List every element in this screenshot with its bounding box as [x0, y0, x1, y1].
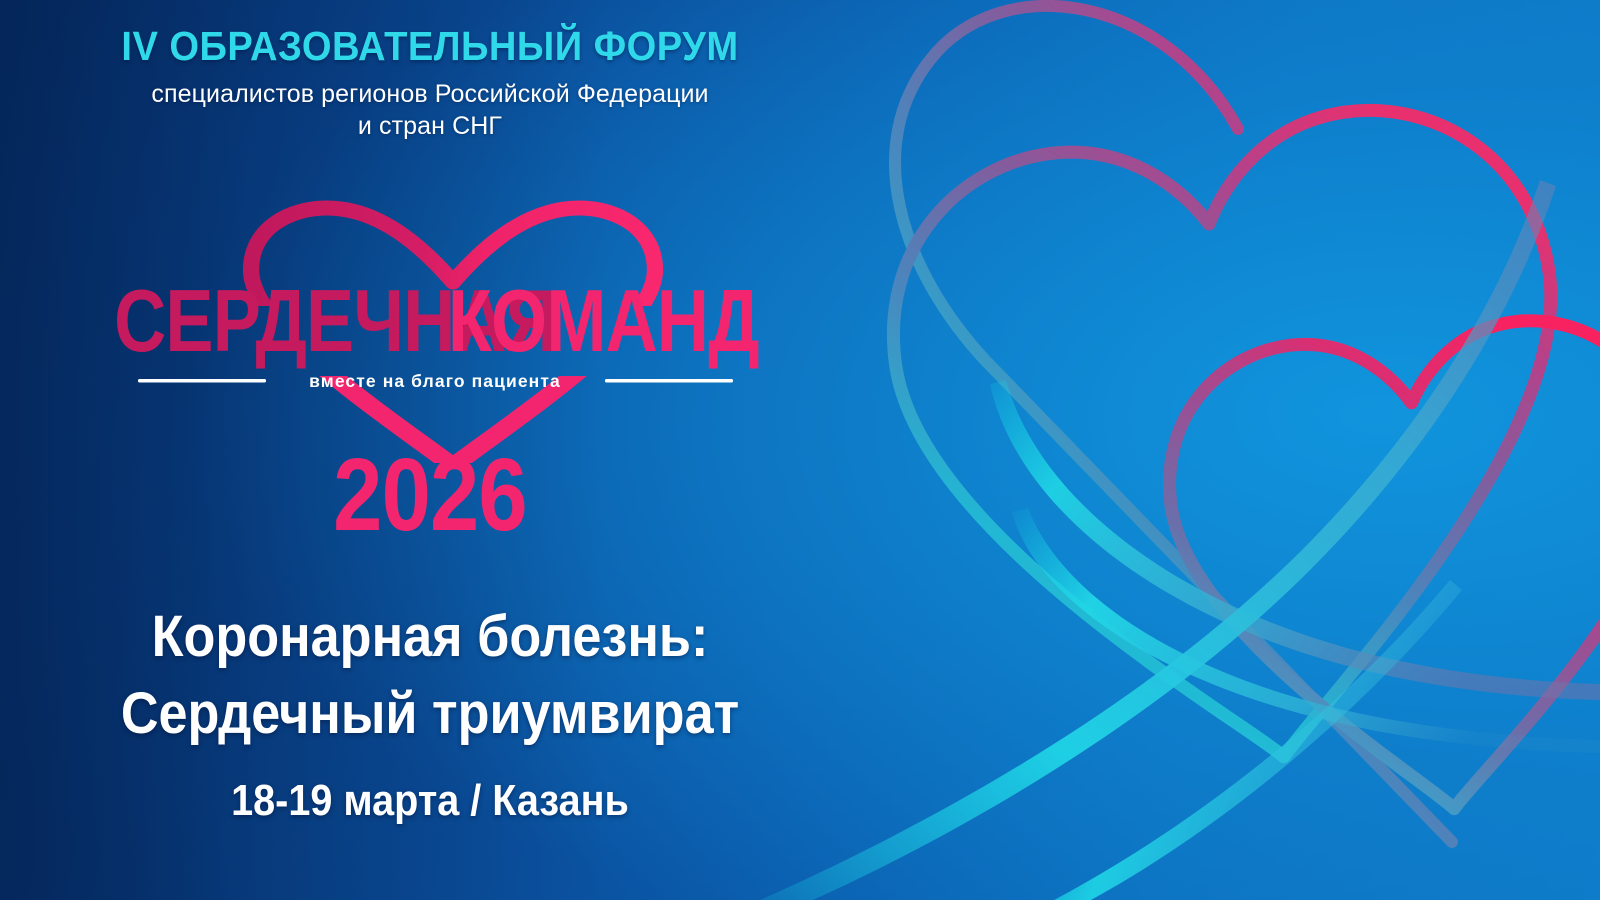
logo-wordmark: СЕРДЕЧНАЯ КОМАНДА — [114, 272, 760, 370]
forum-title: IV ОБРАЗОВАТЕЛЬНЫЙ ФОРУМ — [30, 26, 830, 67]
event-dates-and-city: 18-19 марта / Казань — [43, 777, 817, 825]
tagline-rule-right — [605, 379, 733, 383]
main-title-line-2: Сердечный триумвират — [43, 675, 817, 752]
forum-subtitle: специалистов регионов Российской Федерац… — [0, 78, 860, 142]
decorative-swoosh-1 — [990, 380, 1600, 700]
poster-content: IV ОБРАЗОВАТЕЛЬНЫЙ ФОРУМ специалистов ре… — [0, 0, 880, 900]
decorative-heart-outer — [869, 87, 1600, 803]
event-poster: IV ОБРАЗОВАТЕЛЬНЫЙ ФОРУМ специалистов ре… — [0, 0, 1600, 900]
poster-main-title: Коронарная болезнь: Сердечный триумвират — [43, 598, 817, 752]
event-year: 2026 — [60, 443, 800, 546]
tagline-rule-left — [138, 379, 266, 383]
brand-logo: СЕРДЕЧНАЯ КОМАНДА вместе на благо пациен… — [110, 188, 760, 463]
logo-tagline-group: вместе на благо пациента — [138, 371, 733, 391]
logo-word-komanda: КОМАНДА — [448, 272, 760, 370]
logo-tagline: вместе на благо пациента — [309, 371, 561, 391]
main-title-line-1: Коронарная болезнь: — [43, 598, 817, 675]
forum-subtitle-line-2: и стран СНГ — [358, 112, 502, 140]
forum-subtitle-line-1: специалистов регионов Российской Федерац… — [151, 80, 708, 108]
forum-header: IV ОБРАЗОВАТЕЛЬНЫЙ ФОРУМ специалистов ре… — [0, 26, 860, 142]
